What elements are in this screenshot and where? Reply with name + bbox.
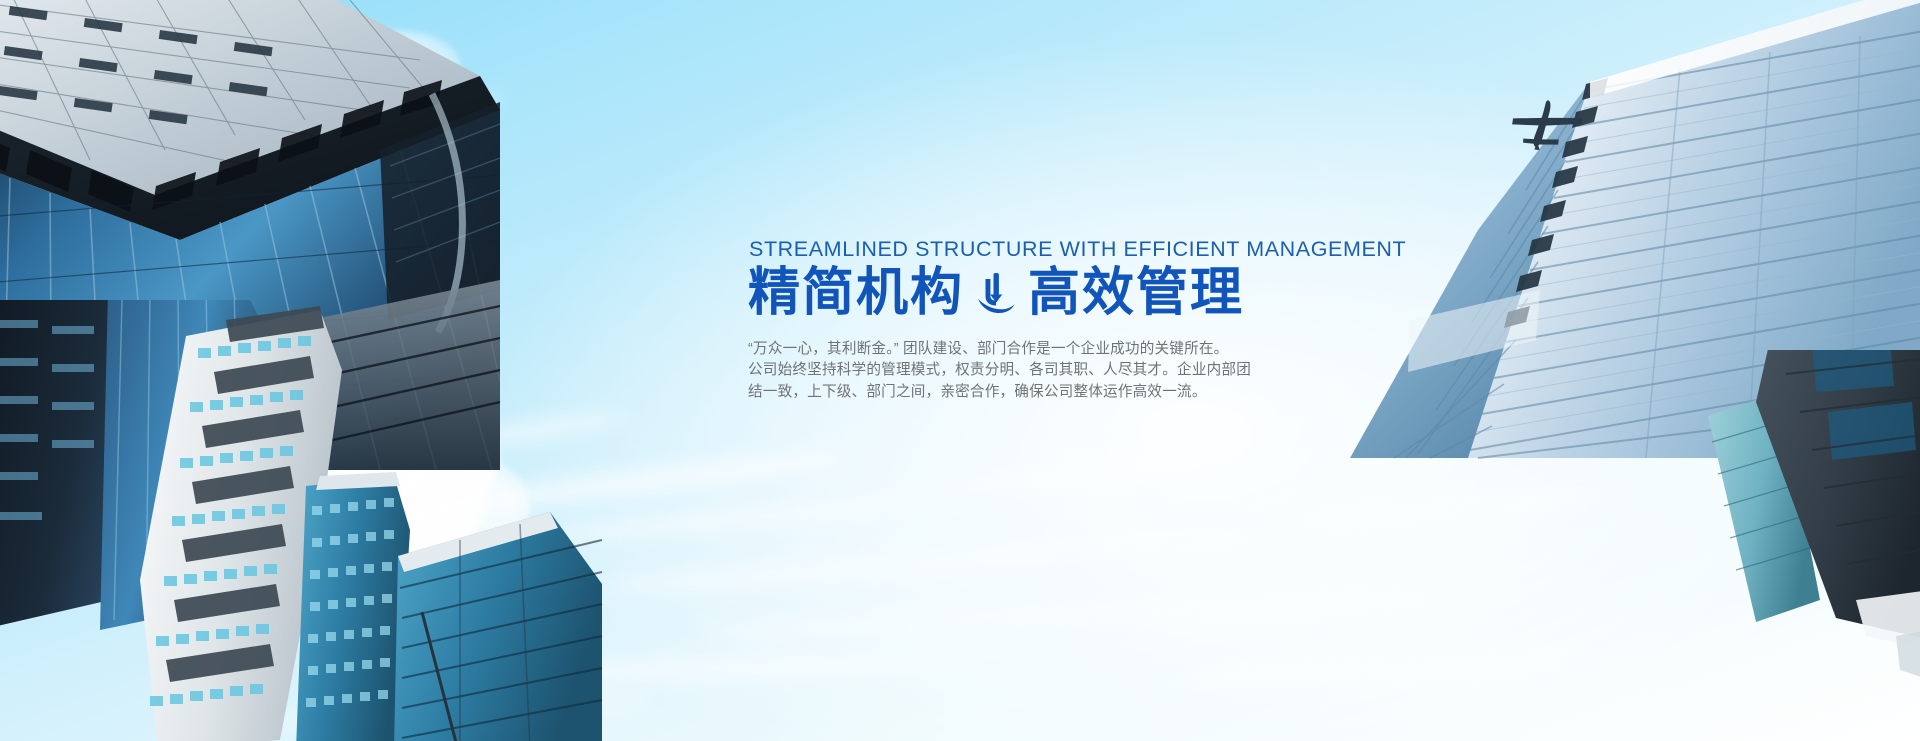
- banner-content: STREAMLINED STRUCTURE WITH EFFICIENT MAN…: [748, 238, 1308, 403]
- paragraph-line-1: “万众一心，其利断金。” 团队建设、部门合作是一个企业成功的关键所在。: [748, 339, 1273, 360]
- company-swoosh-logo-icon: [976, 270, 1016, 316]
- city-towers-lower-left: [0, 300, 610, 741]
- hero-banner: STREAMLINED STRUCTURE WITH EFFICIENT MAN…: [0, 0, 1920, 741]
- dark-corner-tower-right: [1660, 350, 1920, 741]
- paragraph-line-3: 结一致，上下级、部门之间，亲密合作，确保公司整体运作高效一流。: [748, 382, 1273, 403]
- english-subtitle: STREAMLINED STRUCTURE WITH EFFICIENT MAN…: [749, 238, 1308, 262]
- headline-chinese-right: 高效管理: [1028, 264, 1244, 323]
- headline-row: 精简机构 高效管理: [748, 264, 1308, 323]
- banner-paragraph: “万众一心，其利断金。” 团队建设、部门合作是一个企业成功的关键所在。 公司始终…: [748, 339, 1273, 403]
- paragraph-line-2: 公司始终坚持科学的管理模式，权责分明、各司其职、人尽其才。企业内部团: [748, 360, 1273, 381]
- headline-chinese-left: 精简机构: [748, 264, 964, 323]
